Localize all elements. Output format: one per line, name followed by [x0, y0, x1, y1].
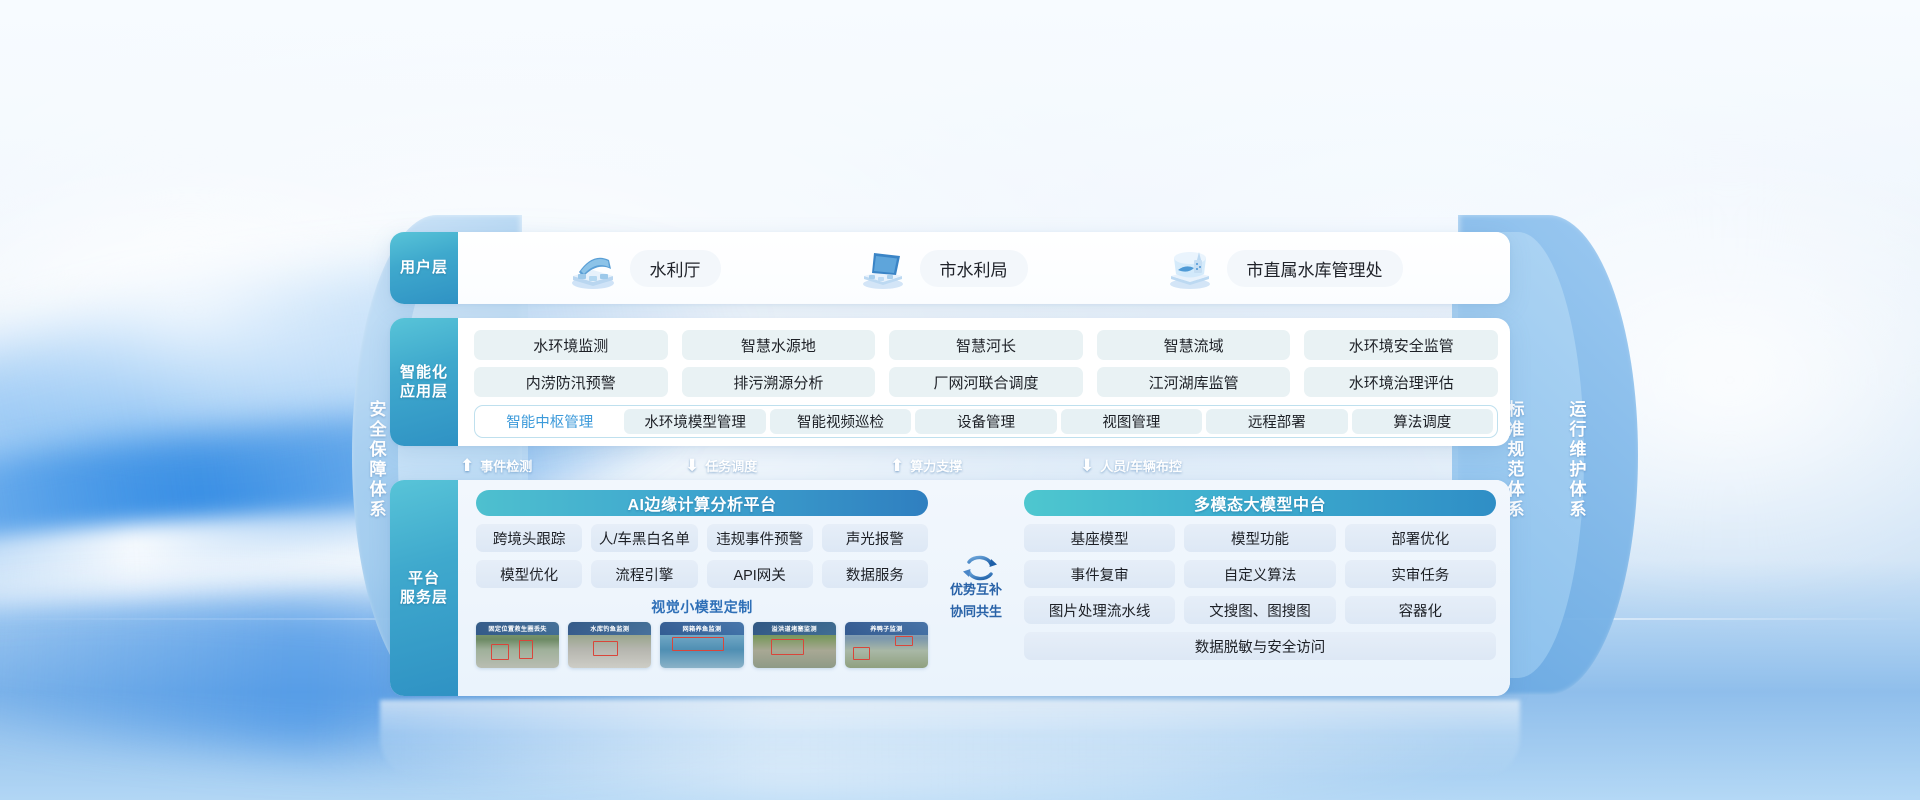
- control-room-icon: [566, 246, 620, 290]
- ai-edge-feature-chip[interactable]: 模型优化: [476, 560, 582, 588]
- laptop-icon: [856, 246, 910, 290]
- inter-layer-arrow: ⬇任务调度: [685, 456, 757, 475]
- ai-edge-platform-title: AI边缘计算分析平台: [476, 490, 928, 516]
- user-entity[interactable]: 水利厅: [566, 246, 721, 290]
- user-entity-label: 市直属水库管理处: [1227, 250, 1403, 287]
- arrow-down-icon: ⬇: [1080, 457, 1094, 474]
- architecture-diagram: 安全保障体系 标准规范体系 运行维护体系 用户层 水利厅 市水利局: [0, 0, 1920, 800]
- multimodal-feature-chip[interactable]: 基座模型: [1024, 524, 1175, 552]
- application-pill[interactable]: 厂网河联合调度: [889, 367, 1083, 397]
- visual-model-thumbnail-caption: 溢洪道堵塞监测: [753, 622, 836, 635]
- visual-model-thumbnail[interactable]: 溢洪道堵塞监测: [753, 622, 836, 668]
- visual-model-thumbnail-caption: 养鸭子监测: [845, 622, 928, 635]
- application-pill[interactable]: 智慧水源地: [682, 330, 876, 360]
- platform-layer-tag-line1: 平台: [408, 570, 440, 587]
- inter-layer-arrow-label: 事件检测: [480, 456, 532, 475]
- multimodal-feature-chip[interactable]: 模型功能: [1184, 524, 1335, 552]
- sync-arrows-icon: [960, 553, 992, 577]
- application-layer-tag-line1: 智能化: [400, 364, 448, 381]
- visual-model-thumbnail[interactable]: 网箱养鱼监测: [660, 622, 743, 668]
- detection-bounding-box: [672, 637, 724, 651]
- arrow-down-icon: ⬇: [685, 457, 699, 474]
- ai-edge-feature-chip[interactable]: 流程引擎: [591, 560, 697, 588]
- synergy-text-line1: 优势互补: [950, 581, 1002, 599]
- user-entity[interactable]: 市水利局: [856, 246, 1028, 290]
- application-pill[interactable]: 智慧河长: [889, 330, 1083, 360]
- application-pill[interactable]: 水环境安全监管: [1304, 330, 1498, 360]
- multimodal-feature-row-4: 数据脱敏与安全访问: [1024, 632, 1496, 660]
- arrow-up-icon: ⬆: [460, 457, 474, 474]
- application-pill[interactable]: 水环境监测: [474, 330, 668, 360]
- stage-reflection: [380, 700, 1520, 778]
- multimodal-model-group: 多模态大模型中台 基座模型模型功能部署优化 事件复审自定义算法实审任务 图片处理…: [1024, 490, 1496, 684]
- user-layer-tag: 用户层: [390, 232, 458, 304]
- synergy-text-line2: 协同共生: [950, 603, 1002, 621]
- user-entity-label: 市水利局: [920, 250, 1028, 287]
- inter-layer-arrow-label: 算力支撑: [910, 456, 962, 475]
- visual-model-thumbnail-caption: 水库钓鱼监测: [568, 622, 651, 635]
- visual-model-title: 视觉小模型定制: [476, 597, 928, 617]
- multimodal-feature-chip[interactable]: 自定义算法: [1184, 560, 1335, 588]
- ai-edge-feature-row-2: 模型优化流程引擎API网关数据服务: [476, 560, 928, 588]
- multimodal-feature-chip[interactable]: 容器化: [1345, 596, 1496, 624]
- multimodal-feature-chip[interactable]: 数据脱敏与安全访问: [1024, 632, 1496, 660]
- platform-layer-panel: 平台 服务层 AI边缘计算分析平台 跨境头跟踪人/车黑白名单违规事件预警声光报警…: [390, 480, 1510, 696]
- visual-model-thumbnail[interactable]: 养鸭子监测: [845, 622, 928, 668]
- application-subsystem-bar: 智能中枢管理水环境模型管理智能视频巡检设备管理视图管理远程部署算法调度: [474, 405, 1498, 438]
- detection-bounding-box: [491, 644, 509, 660]
- application-subsystem-chip[interactable]: 算法调度: [1352, 409, 1493, 434]
- multimodal-feature-chip[interactable]: 事件复审: [1024, 560, 1175, 588]
- application-pill[interactable]: 水环境治理评估: [1304, 367, 1498, 397]
- synergy-bridge: 优势互补 协同共生: [938, 490, 1014, 684]
- application-layer-body: 水环境监测智慧水源地智慧河长智慧流域水环境安全监管内涝防汛预警排污溯源分析厂网河…: [458, 318, 1510, 446]
- detection-bounding-box: [593, 641, 618, 656]
- inter-layer-arrow: ⬆事件检测: [460, 456, 532, 475]
- application-pill[interactable]: 江河湖库监管: [1097, 367, 1291, 397]
- inter-layer-arrow-band: ⬆事件检测⬇任务调度⬆算力支撑⬇人员/车辆布控: [390, 452, 1510, 478]
- multimodal-feature-chip[interactable]: 图片处理流水线: [1024, 596, 1175, 624]
- detection-bounding-box: [895, 636, 913, 646]
- user-entity-label: 水利厅: [630, 250, 721, 287]
- inter-layer-arrow-label: 人员/车辆布控: [1100, 456, 1182, 475]
- platform-layer-body: AI边缘计算分析平台 跨境头跟踪人/车黑白名单违规事件预警声光报警 模型优化流程…: [458, 480, 1510, 696]
- application-layer-tag: 智能化 应用层: [390, 318, 458, 446]
- user-entity-list: 水利厅 市水利局 市直属水库管理处: [458, 232, 1510, 304]
- application-pill-grid: 水环境监测智慧水源地智慧河长智慧流域水环境安全监管内涝防汛预警排污溯源分析厂网河…: [474, 330, 1498, 397]
- detection-bounding-box: [519, 640, 532, 658]
- reservoir-icon: [1163, 246, 1217, 290]
- multimodal-feature-row-3: 图片处理流水线文搜图、图搜图容器化: [1024, 596, 1496, 624]
- ai-edge-feature-chip[interactable]: 人/车黑白名单: [591, 524, 697, 552]
- application-subsystem-chip[interactable]: 设备管理: [915, 409, 1056, 434]
- detection-bounding-box: [853, 647, 870, 660]
- application-pill[interactable]: 排污溯源分析: [682, 367, 876, 397]
- application-subsystem-chip[interactable]: 视图管理: [1061, 409, 1202, 434]
- application-subsystem-chip[interactable]: 智能视频巡检: [770, 409, 911, 434]
- application-subsystem-chip[interactable]: 智能中枢管理: [479, 409, 620, 434]
- visual-model-thumbnail-caption: 网箱养鱼监测: [660, 622, 743, 635]
- pillar-operations-system: 运行维护体系: [1556, 360, 1596, 560]
- application-subsystem-chip[interactable]: 远程部署: [1206, 409, 1347, 434]
- application-layer-panel: 智能化 应用层 水环境监测智慧水源地智慧河长智慧流域水环境安全监管内涝防汛预警排…: [390, 318, 1510, 446]
- multimodal-feature-chip[interactable]: 实审任务: [1345, 560, 1496, 588]
- application-subsystem-chip[interactable]: 水环境模型管理: [624, 409, 765, 434]
- user-layer-panel: 用户层 水利厅 市水利局 市直属水库: [390, 232, 1510, 304]
- visual-model-thumbnail-row: 固定位置救生圈丢失水库钓鱼监测网箱养鱼监测溢洪道堵塞监测养鸭子监测: [476, 622, 928, 668]
- visual-model-thumbnail[interactable]: 固定位置救生圈丢失: [476, 622, 559, 668]
- arrow-up-icon: ⬆: [890, 457, 904, 474]
- inter-layer-arrow: ⬇人员/车辆布控: [1080, 456, 1182, 475]
- application-layer-tag-line2: 应用层: [400, 383, 448, 400]
- user-entity[interactable]: 市直属水库管理处: [1163, 246, 1403, 290]
- inter-layer-arrow: ⬆算力支撑: [890, 456, 962, 475]
- multimodal-feature-row-2: 事件复审自定义算法实审任务: [1024, 560, 1496, 588]
- ai-edge-platform-group: AI边缘计算分析平台 跨境头跟踪人/车黑白名单违规事件预警声光报警 模型优化流程…: [476, 490, 928, 684]
- inter-layer-arrow-label: 任务调度: [705, 456, 757, 475]
- visual-model-thumbnail[interactable]: 水库钓鱼监测: [568, 622, 651, 668]
- multimodal-feature-chip[interactable]: 部署优化: [1345, 524, 1496, 552]
- ai-edge-feature-chip[interactable]: 跨境头跟踪: [476, 524, 582, 552]
- platform-layer-tag: 平台 服务层: [390, 480, 458, 696]
- multimodal-feature-chip[interactable]: 文搜图、图搜图: [1184, 596, 1335, 624]
- ai-edge-feature-chip[interactable]: 数据服务: [822, 560, 928, 588]
- ai-edge-feature-chip[interactable]: API网关: [707, 560, 813, 588]
- ai-edge-feature-chip[interactable]: 声光报警: [822, 524, 928, 552]
- platform-layer-tag-line2: 服务层: [400, 589, 448, 606]
- multimodal-model-title: 多模态大模型中台: [1024, 490, 1496, 516]
- application-pill[interactable]: 智慧流域: [1097, 330, 1291, 360]
- ai-edge-feature-chip[interactable]: 违规事件预警: [707, 524, 813, 552]
- multimodal-feature-row-1: 基座模型模型功能部署优化: [1024, 524, 1496, 552]
- detection-bounding-box: [771, 639, 804, 655]
- ai-edge-feature-row-1: 跨境头跟踪人/车黑白名单违规事件预警声光报警: [476, 524, 928, 552]
- application-pill[interactable]: 内涝防汛预警: [474, 367, 668, 397]
- visual-model-thumbnail-caption: 固定位置救生圈丢失: [476, 622, 559, 635]
